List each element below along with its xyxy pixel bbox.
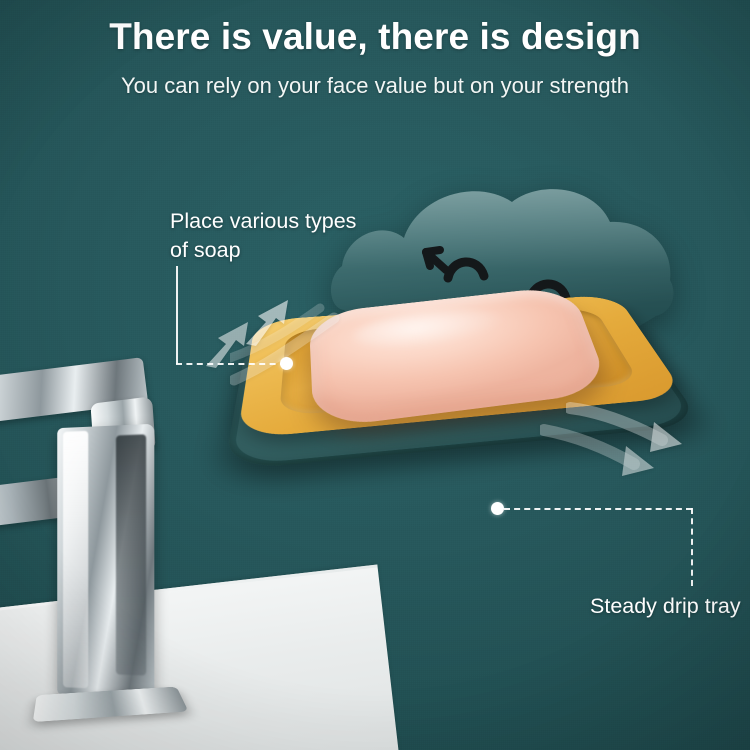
callout-steady-drip-tray: Steady drip tray [590, 592, 741, 621]
leader-line-tray-vertical [691, 508, 693, 586]
leader-line-soap-horizontal [176, 363, 286, 365]
page-headline: There is value, there is design [0, 16, 750, 58]
faucet-base-plate [33, 687, 189, 722]
anchor-dot-drip-tray [491, 502, 504, 515]
chrome-basin-faucet [0, 360, 230, 730]
airflow-streak-left [230, 300, 350, 390]
airflow-arrow-down-right-2 [540, 420, 660, 490]
anchor-dot-soap [280, 357, 293, 370]
page-subheadline: You can rely on your face value but on y… [0, 73, 750, 99]
callout-place-various-types-of-soap: Place various types of soap [170, 207, 356, 265]
leader-line-tray-horizontal [504, 508, 692, 510]
product-marketing-image: There is value, there is design You can … [0, 0, 750, 750]
faucet-body [57, 424, 154, 698]
leader-line-soap-vertical [176, 266, 178, 364]
